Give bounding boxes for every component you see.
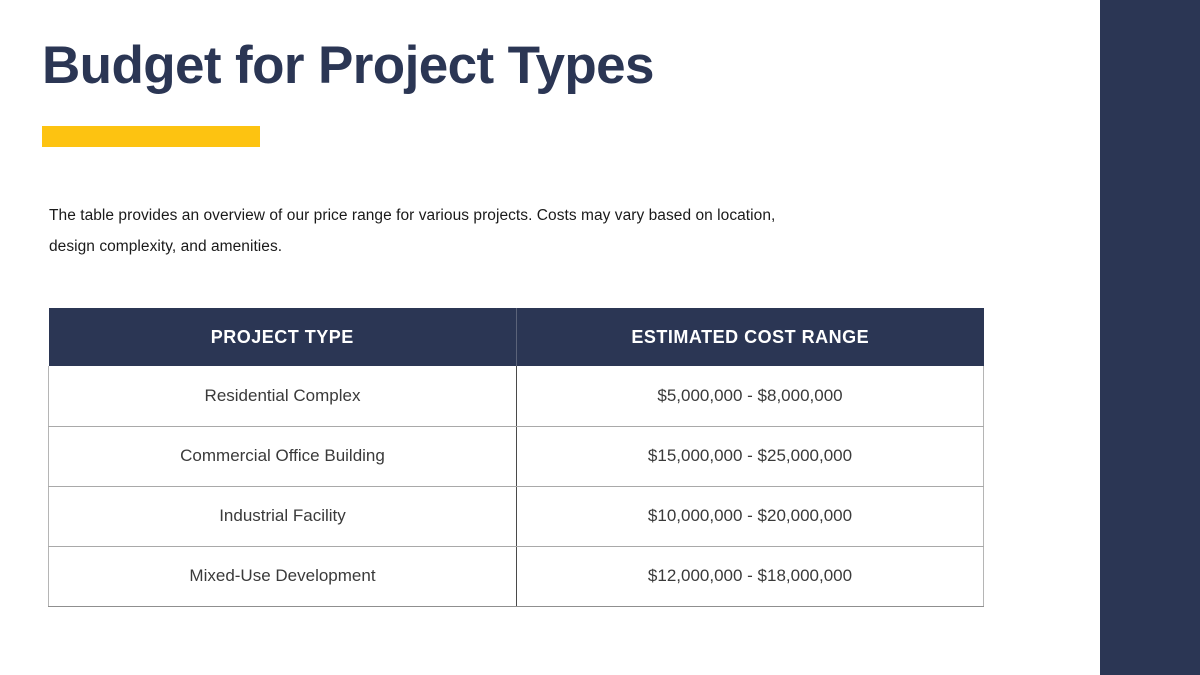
table-row: Residential Complex $5,000,000 - $8,000,… [49, 366, 984, 426]
cell-cost-range: $10,000,000 - $20,000,000 [517, 486, 984, 546]
yellow-accent-bar [42, 126, 260, 147]
cell-project-type: Commercial Office Building [49, 426, 517, 486]
cell-project-type: Residential Complex [49, 366, 517, 426]
table-row: Commercial Office Building $15,000,000 -… [49, 426, 984, 486]
table-row: Industrial Facility $10,000,000 - $20,00… [49, 486, 984, 546]
slide-canvas: Budget for Project Types The table provi… [0, 0, 1200, 675]
cell-cost-range: $15,000,000 - $25,000,000 [517, 426, 984, 486]
column-header-project-type: PROJECT TYPE [49, 308, 517, 366]
cell-project-type: Mixed-Use Development [49, 546, 517, 606]
cell-cost-range: $5,000,000 - $8,000,000 [517, 366, 984, 426]
budget-table: PROJECT TYPE ESTIMATED COST RANGE Reside… [48, 308, 984, 607]
page-title: Budget for Project Types [42, 36, 654, 95]
table-header-row: PROJECT TYPE ESTIMATED COST RANGE [49, 308, 984, 366]
right-navy-side-band [1100, 0, 1200, 675]
table-row: Mixed-Use Development $12,000,000 - $18,… [49, 546, 984, 606]
cell-project-type: Industrial Facility [49, 486, 517, 546]
table-header: PROJECT TYPE ESTIMATED COST RANGE [49, 308, 984, 366]
cell-cost-range: $12,000,000 - $18,000,000 [517, 546, 984, 606]
column-header-estimated-cost-range: ESTIMATED COST RANGE [517, 308, 984, 366]
intro-paragraph: The table provides an overview of our pr… [49, 200, 779, 262]
table-body: Residential Complex $5,000,000 - $8,000,… [49, 366, 984, 606]
